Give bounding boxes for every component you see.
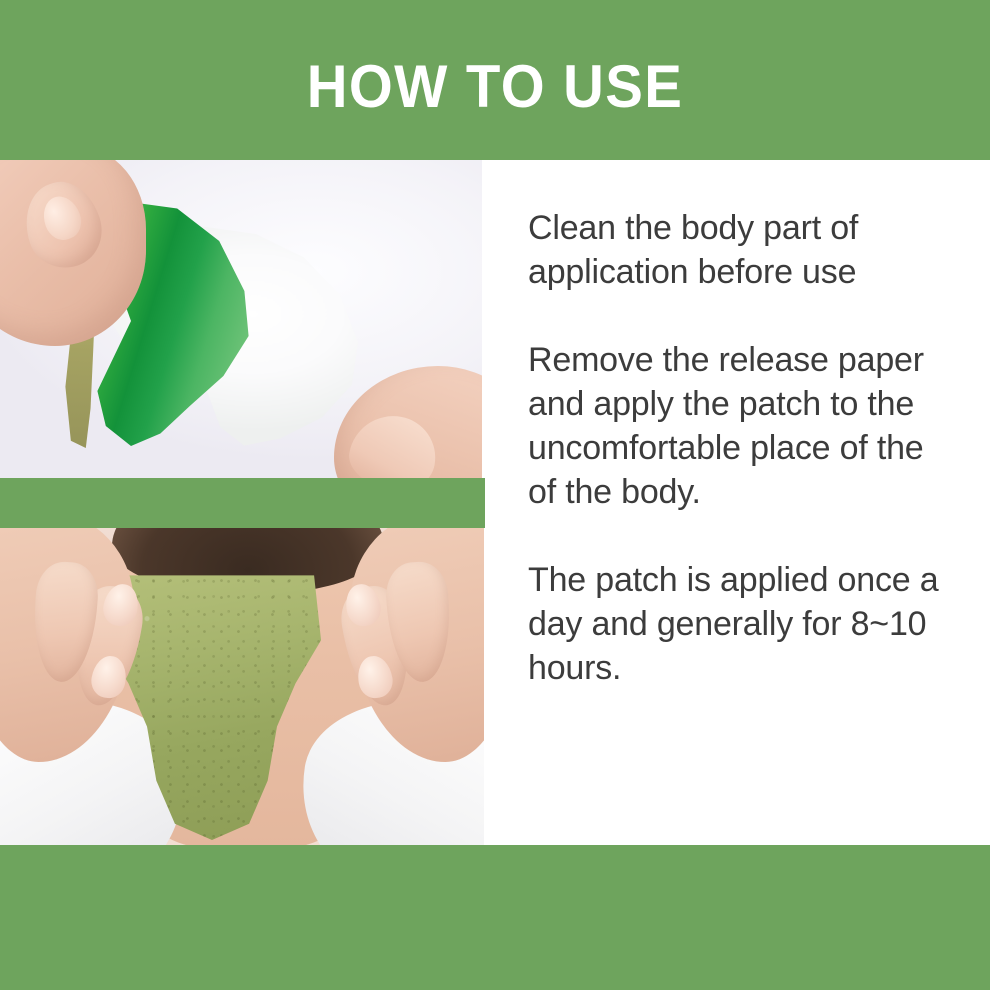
instruction-step-3: The patch is applied once a day and gene…: [528, 558, 948, 690]
photo-release-paper-peel: [0, 160, 482, 478]
instruction-step-1: Clean the body part of application befor…: [528, 206, 948, 294]
page-title: HOW TO USE: [30, 0, 961, 160]
photo-divider-band: [0, 478, 485, 528]
photo-patch-on-neck: [0, 528, 484, 845]
how-to-use-graphic: HOW TO USE Clean the: [0, 0, 990, 990]
instruction-list: Clean the body part of application befor…: [528, 206, 948, 690]
instruction-step-2: Remove the release paper and apply the p…: [528, 338, 948, 514]
footer-band: [0, 845, 990, 990]
